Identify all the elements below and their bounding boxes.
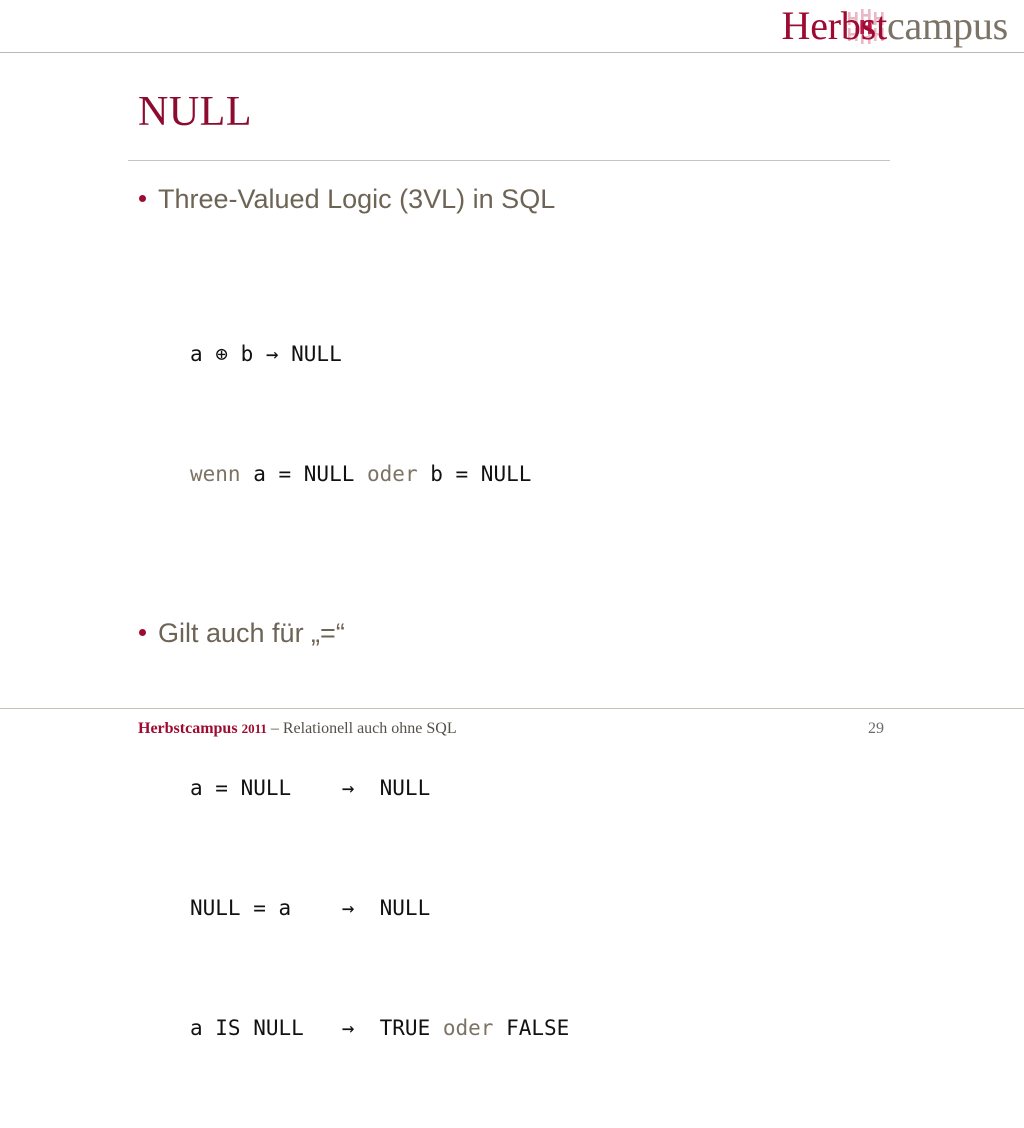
brand-wordmark: Herbstcampus xyxy=(782,4,1008,48)
code-text: a ⊕ b → NULL xyxy=(190,342,342,366)
code-text: NULL = a → NULL xyxy=(190,896,430,920)
slide-header: Herbstcampus xyxy=(0,0,1024,54)
footer-year: 2011 xyxy=(242,721,267,736)
bullet-label: Gilt auch für „=“ xyxy=(158,618,345,648)
bullet-label: Three-Valued Logic (3VL) in SQL xyxy=(158,184,555,214)
spacer xyxy=(0,216,1024,254)
bullet-item-gilt-auch-fuer-equals: Gilt auch für „=“ xyxy=(0,616,1024,650)
spacer xyxy=(0,650,1024,688)
code-line: a ⊕ b → NULL xyxy=(190,334,1024,374)
brand-wordmark-herbst: Herbst xyxy=(782,3,887,48)
code-line: wenn a = NULL oder b = NULL xyxy=(190,454,1024,494)
footer-brand: Herbstcampus xyxy=(138,720,238,737)
spacer xyxy=(0,574,1024,616)
code-line: a = NULL → NULL xyxy=(190,768,1024,808)
code-line: a IS NULL → TRUE oder FALSE xyxy=(190,1008,1024,1048)
code-text: a IS NULL → TRUE xyxy=(190,1016,443,1040)
footer-divider xyxy=(0,708,1024,709)
code-text: a = NULL → NULL xyxy=(190,776,430,800)
bullet-dot-icon xyxy=(139,629,146,636)
footer-subject: – Relationell auch ohne SQL xyxy=(267,720,457,737)
code-text: FALSE xyxy=(493,1016,569,1040)
code-keyword-oder: oder xyxy=(443,1016,494,1040)
page-number: 29 xyxy=(868,718,884,740)
code-keyword-wenn: wenn xyxy=(190,462,241,486)
title-divider xyxy=(128,160,890,161)
code-block-equals-null: a = NULL → NULL NULL = a → NULL a IS NUL… xyxy=(0,688,1024,1128)
slide-body: Three-Valued Logic (3VL) in SQL a ⊕ b → … xyxy=(0,182,1024,1128)
code-text: a = NULL xyxy=(241,462,367,486)
code-line: NULL = a → NULL xyxy=(190,888,1024,928)
code-block-xor-null: a ⊕ b → NULL wenn a = NULL oder b = NULL xyxy=(0,254,1024,574)
header-divider xyxy=(0,52,1024,53)
code-text: b = NULL xyxy=(418,462,532,486)
footer-caption: Herbstcampus 2011 – Relationell auch ohn… xyxy=(138,718,457,740)
code-keyword-oder: oder xyxy=(367,462,418,486)
brand-wordmark-campus: campus xyxy=(887,3,1008,48)
bullet-item-three-valued-logic: Three-Valued Logic (3VL) in SQL xyxy=(0,182,1024,216)
bullet-dot-icon xyxy=(139,195,146,202)
page-title: NULL xyxy=(138,88,252,136)
